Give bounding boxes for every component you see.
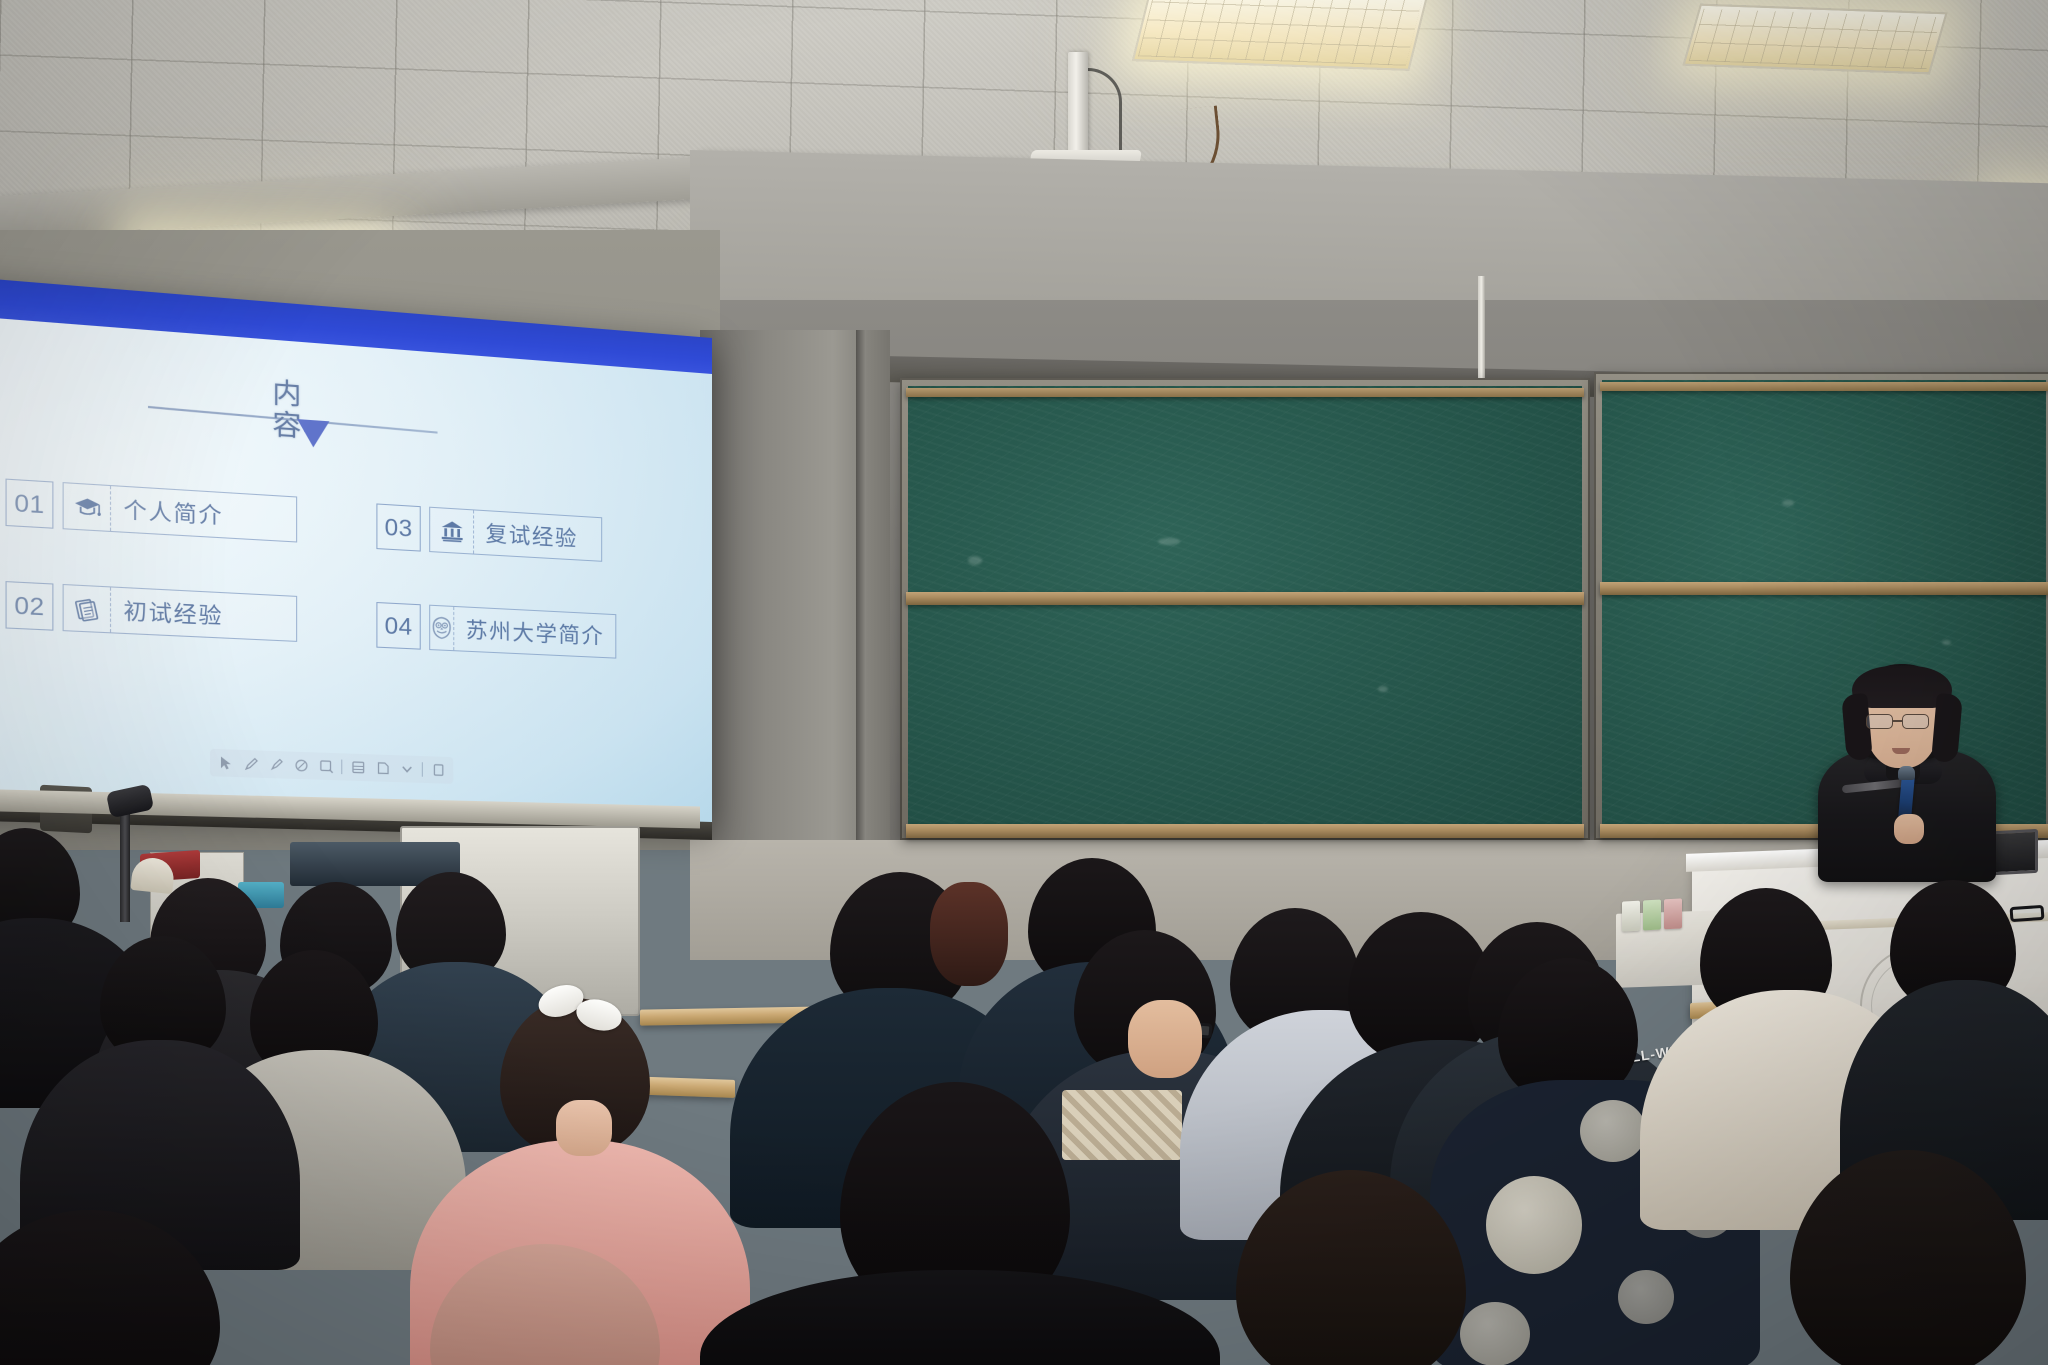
agenda-item-number: 03	[376, 503, 420, 551]
agenda-item-number: 04	[376, 602, 420, 650]
chevron-down-icon[interactable]	[395, 758, 417, 779]
slide-title-line-1: 内	[272, 377, 302, 411]
blackboard-top-trim	[906, 388, 1584, 397]
blackboard-chalk-rail	[906, 592, 1584, 605]
slide-agenda-list: 01 个人简介 02	[5, 479, 668, 711]
eyeglasses-lens	[1902, 714, 1929, 729]
cartoon-print-face	[1580, 1100, 1646, 1162]
graduation-cap-icon	[64, 483, 111, 531]
audience-face-profile	[1128, 1000, 1202, 1078]
drink-cans	[1622, 898, 1682, 931]
agenda-item: 02 初试经验	[5, 581, 297, 642]
plaid-shirt-collar	[1062, 1090, 1182, 1160]
agenda-item: 04	[376, 602, 616, 659]
agenda-item: 03 复试经验	[376, 503, 602, 561]
agenda-item-number: 01	[5, 479, 53, 529]
audience-hair-red	[930, 882, 1008, 986]
blackboard-chalk-rail	[1600, 582, 2048, 595]
slide-title-triangle-marker	[297, 419, 329, 448]
can	[1643, 900, 1661, 931]
eyeglasses-lens	[1866, 714, 1893, 729]
more-options-icon[interactable]	[427, 759, 449, 780]
projector-mount-rod	[1068, 52, 1088, 160]
presentation-slide: 内容 01	[0, 313, 712, 822]
agenda-item-label: 初试经验	[111, 587, 237, 638]
blackboard-panel-left	[900, 378, 1590, 840]
blackboard-top-trim	[1600, 382, 2048, 391]
agenda-item: 01 个人简介	[5, 479, 297, 543]
cartoon-print-face	[1486, 1176, 1582, 1274]
presenter-hand	[1894, 814, 1924, 844]
wall-pillar-edge	[856, 330, 866, 890]
lecture-hall-photo: 内容 01	[0, 0, 2048, 1365]
blackboard-bottom-rail	[906, 824, 1584, 838]
owl-emblem-icon	[430, 606, 454, 650]
agenda-item-card: 苏州大学简介	[429, 605, 616, 659]
pen-icon[interactable]	[240, 753, 263, 775]
agenda-item-card: 复试经验	[429, 507, 602, 562]
highlighter-icon[interactable]	[265, 754, 288, 776]
toolbar-separator	[422, 762, 423, 776]
agenda-item-label: 苏州大学简介	[454, 607, 617, 658]
slide-title-group: 内容	[206, 373, 505, 475]
ceiling-light-panel	[1682, 4, 1947, 75]
presentation-ink-toolbar[interactable]	[210, 749, 453, 784]
magnifier-icon[interactable]	[314, 756, 337, 778]
projection-screen: 内容 01	[0, 274, 712, 824]
can	[1622, 901, 1640, 932]
presenter	[1812, 664, 2002, 882]
slide-grid-icon[interactable]	[347, 757, 369, 779]
cartoon-print-face	[1618, 1270, 1674, 1324]
bank-building-icon	[430, 508, 474, 554]
laser-icon[interactable]	[371, 757, 393, 778]
agenda-item-label: 个人简介	[111, 486, 237, 538]
agenda-item-number: 02	[5, 581, 53, 631]
toolbar-separator	[341, 760, 342, 775]
agenda-item-card: 个人简介	[63, 482, 298, 542]
books-papers-icon	[64, 585, 111, 632]
agenda-item-label: 复试经验	[474, 510, 591, 560]
audience-face-profile	[556, 1100, 612, 1156]
eraser-icon[interactable]	[290, 755, 313, 777]
microphone-capsule	[1898, 766, 1915, 780]
agenda-item-card: 初试经验	[63, 584, 298, 642]
can	[1664, 898, 1682, 929]
eyeglasses	[2010, 905, 2045, 922]
chalkboard-surface	[908, 386, 1582, 832]
hanging-sensor-rod	[1478, 276, 1485, 392]
pointer-icon[interactable]	[214, 752, 237, 774]
microphone-stand	[120, 812, 130, 922]
cartoon-print-face	[1460, 1302, 1530, 1365]
eyeglasses-bridge	[1893, 720, 1902, 722]
